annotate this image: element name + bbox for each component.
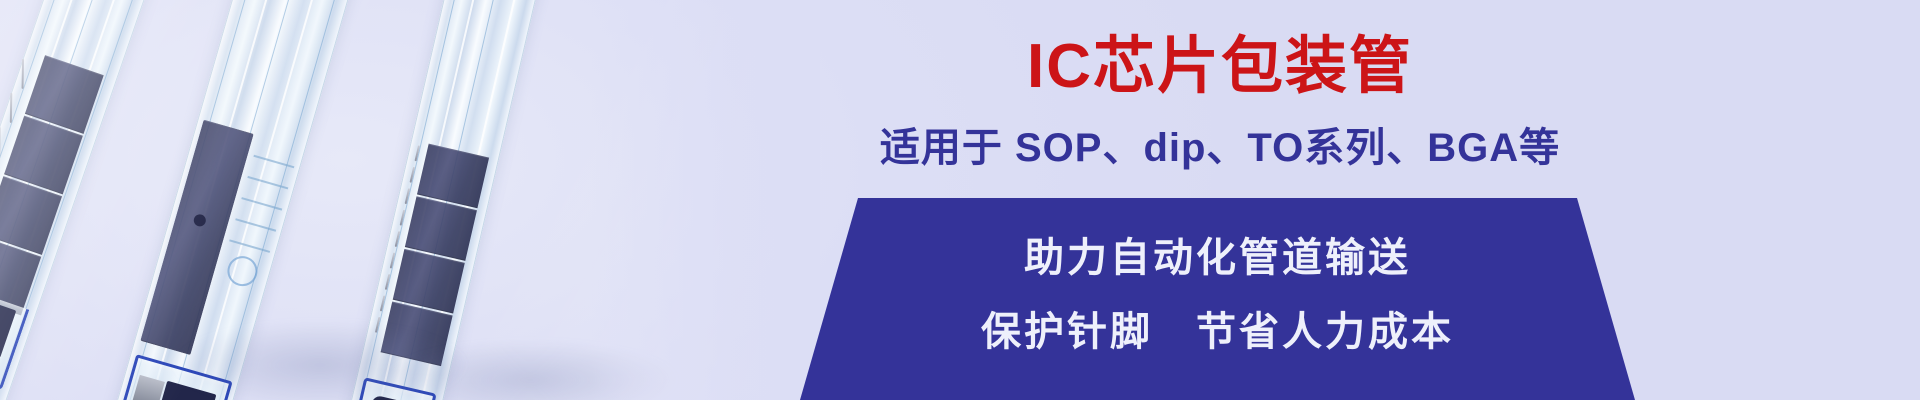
headline: IC芯片包装管 xyxy=(760,36,1680,98)
feature-panel: 助力自动化管道输送 保护针脚 节省人力成本 xyxy=(800,198,1635,400)
promo-banner: IC芯片包装管 适用于 SOP、dip、TO系列、BGA等 助力自动化管道输送 … xyxy=(0,0,1920,400)
product-photo xyxy=(0,0,820,400)
feature-line-1: 助力自动化管道输送 xyxy=(800,238,1635,278)
subtitle: 适用于 SOP、dip、TO系列、BGA等 xyxy=(760,128,1680,168)
tube-shadow xyxy=(380,340,680,400)
chip-pin-row xyxy=(131,375,164,400)
banner-copy: IC芯片包装管 适用于 SOP、dip、TO系列、BGA等 助力自动化管道输送 … xyxy=(760,0,1920,400)
feature-line-2: 保护针脚 节省人力成本 xyxy=(800,312,1635,352)
